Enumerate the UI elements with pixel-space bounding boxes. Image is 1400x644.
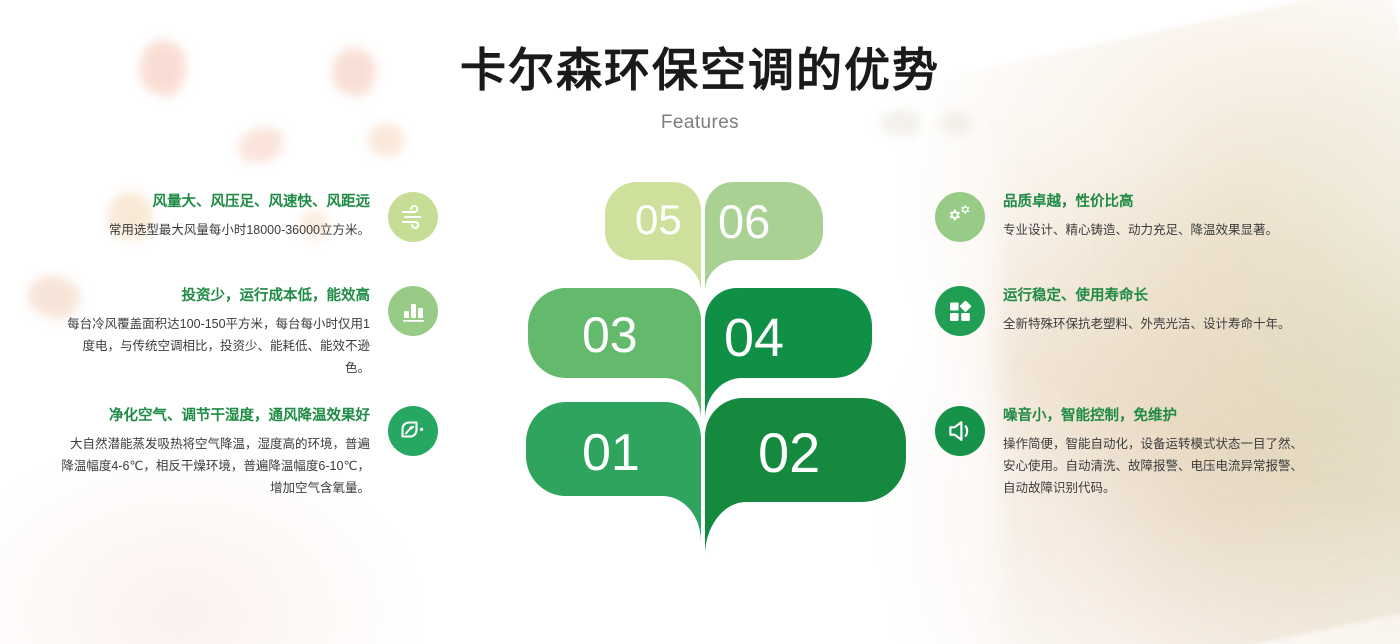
feature-title: 品质卓越，性价比高 (1003, 192, 1303, 214)
feature-item-04[interactable]: 运行稳定、使用寿命长 全新特殊环保抗老塑料、外壳光洁、设计寿命十年。 (935, 286, 1303, 336)
leaf-02-number: 02 (758, 421, 820, 484)
slide-canvas: 卡尔森环保空调的优势 Features 风量大、风压足、风速快、风距远 常用选型… (0, 0, 1400, 644)
feature-title: 净化空气、调节干湿度，通风降温效果好 (60, 406, 370, 428)
feature-description: 专业设计、精心铸造、动力充足、降温效果显著。 (1003, 220, 1303, 242)
leaf-05[interactable]: 05 (605, 182, 701, 292)
feature-text-02: 噪音小，智能控制，免维护 操作简便，智能自动化，设备运转模式状态一目了然、安心使… (1003, 406, 1303, 499)
page-title: 卡尔森环保空调的优势 (0, 42, 1400, 100)
feature-item-01[interactable]: 净化空气、调节干湿度，通风降温效果好 大自然潜能蒸发吸热将空气降温，湿度高的环境… (60, 406, 438, 499)
feature-item-02[interactable]: 噪音小，智能控制，免维护 操作简便，智能自动化，设备运转模式状态一目了然、安心使… (935, 406, 1303, 499)
leaf-06-number: 06 (718, 195, 770, 248)
feature-item-03[interactable]: 投资少，运行成本低，能效高 每台冷风覆盖面积达100-150平方米，每台每小时仅… (60, 286, 438, 379)
page-subtitle: Features (0, 112, 1400, 134)
feature-title: 运行稳定、使用寿命长 (1003, 286, 1303, 308)
leaf-03[interactable]: 03 (528, 288, 701, 420)
feature-description: 全新特殊环保抗老塑料、外壳光洁、设计寿命十年。 (1003, 314, 1303, 336)
grid-squares-icon (935, 286, 985, 336)
feature-text-01: 净化空气、调节干湿度，通风降温效果好 大自然潜能蒸发吸热将空气降温，湿度高的环境… (60, 406, 370, 499)
feature-title: 噪音小，智能控制，免维护 (1003, 406, 1303, 428)
wind-icon (388, 192, 438, 242)
feature-item-06[interactable]: 品质卓越，性价比高 专业设计、精心铸造、动力充足、降温效果显著。 (935, 192, 1303, 242)
bar-chart-icon (388, 286, 438, 336)
leaf-05-number: 05 (635, 196, 682, 243)
feature-text-03: 投资少，运行成本低，能效高 每台冷风覆盖面积达100-150平方米，每台每小时仅… (60, 286, 370, 379)
feature-item-05[interactable]: 风量大、风压足、风速快、风距远 常用选型最大风量每小时18000-36000立方… (60, 192, 438, 242)
leaf-01[interactable]: 01 (526, 402, 701, 542)
leaf-04-number: 04 (724, 308, 784, 368)
header: 卡尔森环保空调的优势 Features (0, 0, 1400, 134)
feature-description: 常用选型最大风量每小时18000-36000立方米。 (60, 220, 370, 242)
feature-text-06: 品质卓越，性价比高 专业设计、精心铸造、动力充足、降温效果显著。 (1003, 192, 1303, 242)
leaf-01-number: 01 (582, 424, 640, 482)
feature-description: 大自然潜能蒸发吸热将空气降温，湿度高的环境，普遍降温幅度4-6℃，相反干燥环境，… (60, 434, 370, 500)
feature-text-04: 运行稳定、使用寿命长 全新特殊环保抗老塑料、外壳光洁、设计寿命十年。 (1003, 286, 1303, 336)
leaf-cluster-graphic: 05 06 03 04 01 (490, 170, 910, 570)
feature-title: 投资少，运行成本低，能效高 (60, 286, 370, 308)
feature-text-05: 风量大、风压足、风速快、风距远 常用选型最大风量每小时18000-36000立方… (60, 192, 370, 242)
feature-title: 风量大、风压足、风速快、风距远 (60, 192, 370, 214)
leaf-06[interactable]: 06 (705, 182, 823, 292)
feature-description: 操作简便，智能自动化，设备运转模式状态一目了然、安心使用。自动清洗、故障报警、电… (1003, 434, 1303, 500)
feature-description: 每台冷风覆盖面积达100-150平方米，每台每小时仅用1度电，与传统空调相比，投… (60, 314, 370, 380)
leaf-03-number: 03 (582, 307, 638, 363)
speaker-icon (935, 406, 985, 456)
leaf-02[interactable]: 02 (705, 398, 906, 556)
gears-icon (935, 192, 985, 242)
eco-leaf-icon (388, 406, 438, 456)
